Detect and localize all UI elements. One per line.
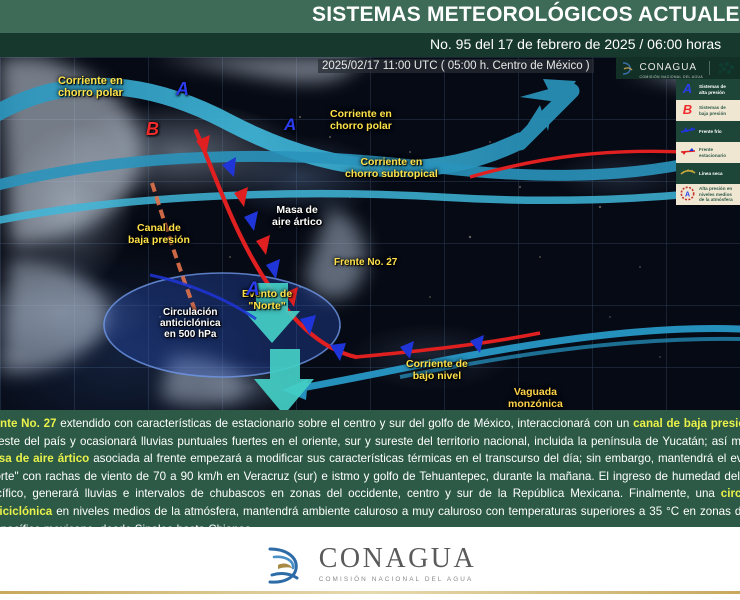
stationary-front-icon [679, 147, 696, 158]
legend-cold-front: Frente frío [676, 121, 740, 142]
label-monsoon-trough: Vaguada monzónica [508, 387, 563, 410]
conagua-logo-subtitle: COMISIÓN NACIONAL DEL AGUA [319, 576, 477, 583]
conagua-logo-name: CONAGUA [319, 545, 477, 573]
mid-level-high-icon: A [679, 186, 696, 203]
bulletin-paragraph: Frente No. 27 extendido con característi… [0, 415, 740, 527]
legend-stationary-front: Frente estacionario [676, 142, 740, 163]
map-legend: A Sistemas de alta presión B Sistemas de… [676, 79, 740, 205]
legend-high-pressure-label: Sistemas de alta presión [699, 84, 726, 95]
weather-bulletin-page: SISTEMAS METEOROLÓGICOS ACTUALES No. 95 … [0, 0, 740, 600]
map-timestamp: 2025/02/17 11:00 UTC ( 05:00 h. Centro d… [318, 59, 594, 73]
legend-low-pressure-icon: B [679, 102, 696, 118]
legend-high-pressure: A Sistemas de alta presión [676, 79, 740, 100]
svg-text:A: A [685, 192, 690, 199]
label-arctic-air-mass: Masa de aire ártico [272, 205, 322, 229]
header-band: SISTEMAS METEOROLÓGICOS ACTUALES [0, 0, 740, 33]
label-low-pressure-trough: Canal de baja presión [128, 223, 190, 247]
conagua-logo-icon [264, 541, 310, 587]
conagua-wave-icon [622, 61, 634, 75]
cold-front-icon [679, 126, 696, 137]
legend-dry-line-label: Línea seca [699, 171, 723, 177]
map-brand-name: CONAGUA [640, 62, 698, 73]
marker-high-pressure-a4: A [246, 279, 260, 301]
label-anticyclonic-circulation: Circulación anticiclónica en 500 hPa [160, 307, 221, 341]
label-jet-stream-polar-east: Corriente en chorro polar [330, 109, 392, 133]
page-title: SISTEMAS METEOROLÓGICOS ACTUALES [312, 3, 740, 27]
satellite-weather-map[interactable]: 2025/02/17 11:00 UTC ( 05:00 h. Centro d… [0, 57, 740, 410]
conagua-logo: CONAGUA COMISIÓN NACIONAL DEL AGUA [264, 541, 477, 587]
legend-high-pressure-icon: A [679, 81, 696, 97]
bulletin-number-date: No. 95 del 17 de febrero de 2025 / 06:00… [430, 36, 721, 52]
legend-low-pressure: B Sistemas de baja presión [676, 100, 740, 121]
label-low-level-jet: Corriente de bajo nivel [406, 359, 468, 383]
legend-mid-level-high-label: Alta presión en niveles medios de la atm… [699, 186, 733, 203]
label-cold-front-27: Frente No. 27 [334, 257, 397, 268]
footer-gold-rule [0, 591, 740, 594]
bulletin-text-band: Frente No. 27 extendido con característi… [0, 410, 740, 527]
marker-low-pressure-b1: B [146, 119, 159, 140]
map-brand-strip: CONAGUA COMISIÓN NACIONAL DEL AGUA [616, 57, 740, 79]
dry-line-icon [679, 168, 696, 179]
legend-low-pressure-label: Sistemas de baja presión [699, 105, 726, 116]
footer: CONAGUA COMISIÓN NACIONAL DEL AGUA [0, 527, 740, 600]
legend-dry-line: Línea seca [676, 163, 740, 184]
legend-cold-front-label: Frente frío [699, 129, 722, 135]
legend-mid-level-high: A Alta presión en niveles medios de la a… [676, 184, 740, 205]
label-jet-stream-subtropical: Corriente en chorro subtropical [345, 157, 438, 181]
marker-high-pressure-a1: A [176, 79, 189, 100]
legend-stationary-front-label: Frente estacionario [699, 147, 726, 158]
gobierno-mexico-icon [716, 60, 736, 76]
marker-high-pressure-a2: A [284, 115, 296, 135]
label-jet-stream-polar-west: Corriente en chorro polar [58, 75, 123, 100]
subheader-band: No. 95 del 17 de febrero de 2025 / 06:00… [0, 33, 740, 57]
brand-divider [709, 61, 710, 75]
